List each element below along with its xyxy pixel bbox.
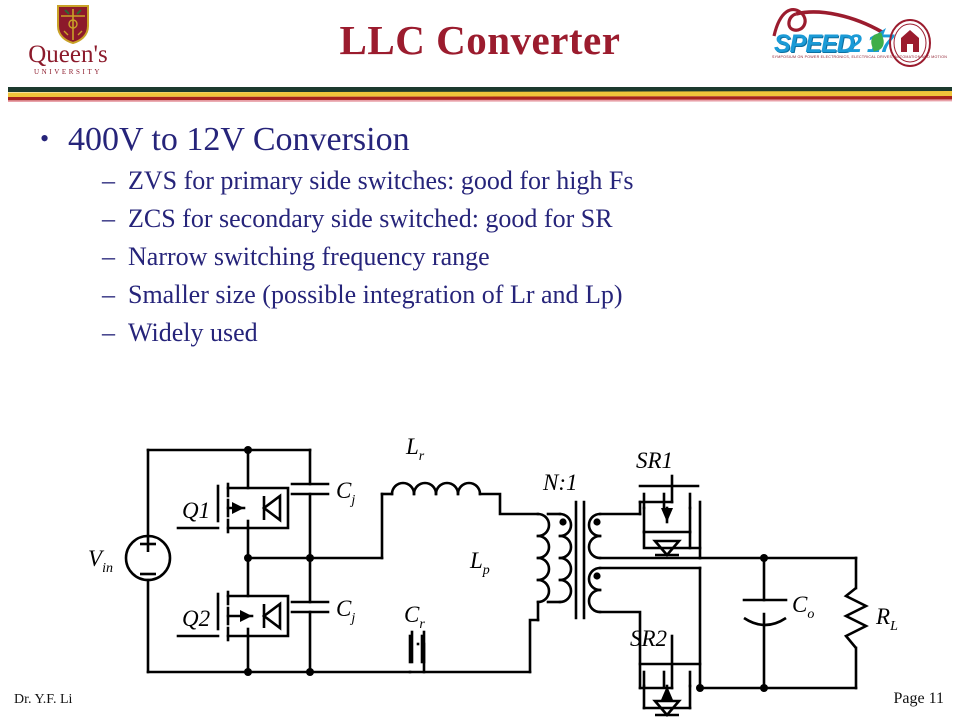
- bullet-marker: •: [40, 122, 68, 156]
- dash-marker: –: [102, 276, 128, 314]
- header-divider-rule: [8, 86, 952, 102]
- university-seal-icon: [888, 18, 932, 68]
- label-cr: Cr: [404, 602, 425, 632]
- bullet-level2-item: – ZCS for secondary side switched: good …: [102, 200, 880, 238]
- label-turns-ratio: N:1: [542, 470, 578, 495]
- label-cj-bottom: Cj: [336, 596, 355, 626]
- bullet-level2-text: Narrow switching frequency range: [128, 238, 490, 276]
- bullet-level2-text: Smaller size (possible integration of Lr…: [128, 276, 623, 314]
- speed-2017-logo: SPEED 2 17 SYMPOSIUM ON POWER ELECTRONIC…: [770, 4, 910, 84]
- label-q1: Q1: [182, 498, 210, 523]
- label-lp: Lp: [469, 548, 490, 578]
- slide-body: • 400V to 12V Conversion – ZVS for prima…: [40, 122, 880, 352]
- dash-marker: –: [102, 200, 128, 238]
- label-rl: RL: [875, 604, 898, 634]
- label-cj-top: Cj: [336, 478, 355, 508]
- label-sr2: SR2: [630, 626, 667, 651]
- llc-converter-schematic: Vin Q1 Q2 Cj Cj Lr Lp Cr N:1 SR1 SR2 Co …: [0, 396, 960, 720]
- queens-university-subtitle: UNIVERSITY: [16, 68, 120, 76]
- dash-marker: –: [102, 314, 128, 352]
- bullet-level1: • 400V to 12V Conversion: [40, 122, 880, 158]
- bullet-level1-text: 400V to 12V Conversion: [68, 122, 410, 158]
- bullet-level2-item: – Smaller size (possible integration of …: [102, 276, 880, 314]
- label-lr: Lr: [405, 434, 425, 464]
- footer-page-number: Page 11: [893, 690, 944, 708]
- bullet-level2-text: Widely used: [128, 314, 258, 352]
- bullet-level2-item: – Narrow switching frequency range: [102, 238, 880, 276]
- slide-header: Queen's UNIVERSITY LLC Converter SPEED 2…: [0, 0, 960, 96]
- slide-root: Queen's UNIVERSITY LLC Converter SPEED 2…: [0, 0, 960, 720]
- speed-tagline: SYMPOSIUM ON POWER ELECTRONICS, ELECTRIC…: [772, 56, 898, 60]
- label-co: Co: [792, 592, 814, 622]
- dash-marker: –: [102, 162, 128, 200]
- label-q2: Q2: [182, 606, 210, 631]
- label-vin: Vin: [88, 546, 113, 576]
- dash-marker: –: [102, 238, 128, 276]
- footer-author: Dr. Y.F. Li: [14, 692, 72, 708]
- bullet-level2-item: – Widely used: [102, 314, 880, 352]
- label-sr1: SR1: [636, 448, 673, 473]
- bullet-level2-text: ZCS for secondary side switched: good fo…: [128, 200, 613, 238]
- bullet-level2-text: ZVS for primary side switches: good for …: [128, 162, 634, 200]
- bullet-level2-item: – ZVS for primary side switches: good fo…: [102, 162, 880, 200]
